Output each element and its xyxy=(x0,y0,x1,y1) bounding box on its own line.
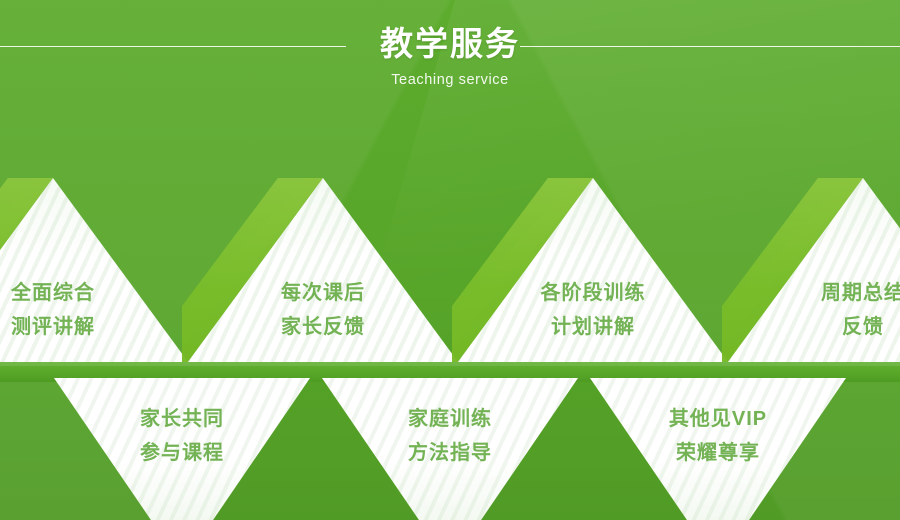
feature-row-bottom: 家长共同参与课程 家庭训练方法指导 其他见VIP荣耀尊享 xyxy=(0,378,900,520)
triangle-shape xyxy=(54,378,310,520)
triangle-shape xyxy=(590,378,846,520)
page-title: 教学服务 xyxy=(0,22,900,66)
feature-triangle-3[interactable]: 各阶段训练计划讲解 xyxy=(452,170,734,370)
feature-triangle-6[interactable]: 家庭训练方法指导 xyxy=(322,378,578,520)
header: 教学服务 Teaching service xyxy=(0,0,900,110)
teaching-service-banner: 教学服务 Teaching service 全面综合测评讲解 每次课后家长反馈 … xyxy=(0,0,900,520)
feature-row-top: 全面综合测评讲解 每次课后家长反馈 各阶段训练计划讲解 周期总结反馈 xyxy=(0,170,900,370)
row-divider-band-highlight xyxy=(0,362,900,366)
feature-triangle-4[interactable]: 周期总结反馈 xyxy=(722,170,900,370)
feature-triangle-7[interactable]: 其他见VIP荣耀尊享 xyxy=(590,378,846,520)
feature-triangle-5[interactable]: 家长共同参与课程 xyxy=(54,378,310,520)
triangle-shape xyxy=(322,378,578,520)
feature-triangle-1[interactable]: 全面综合测评讲解 xyxy=(0,170,194,370)
feature-triangle-2[interactable]: 每次课后家长反馈 xyxy=(182,170,464,370)
page-subtitle: Teaching service xyxy=(0,70,900,90)
